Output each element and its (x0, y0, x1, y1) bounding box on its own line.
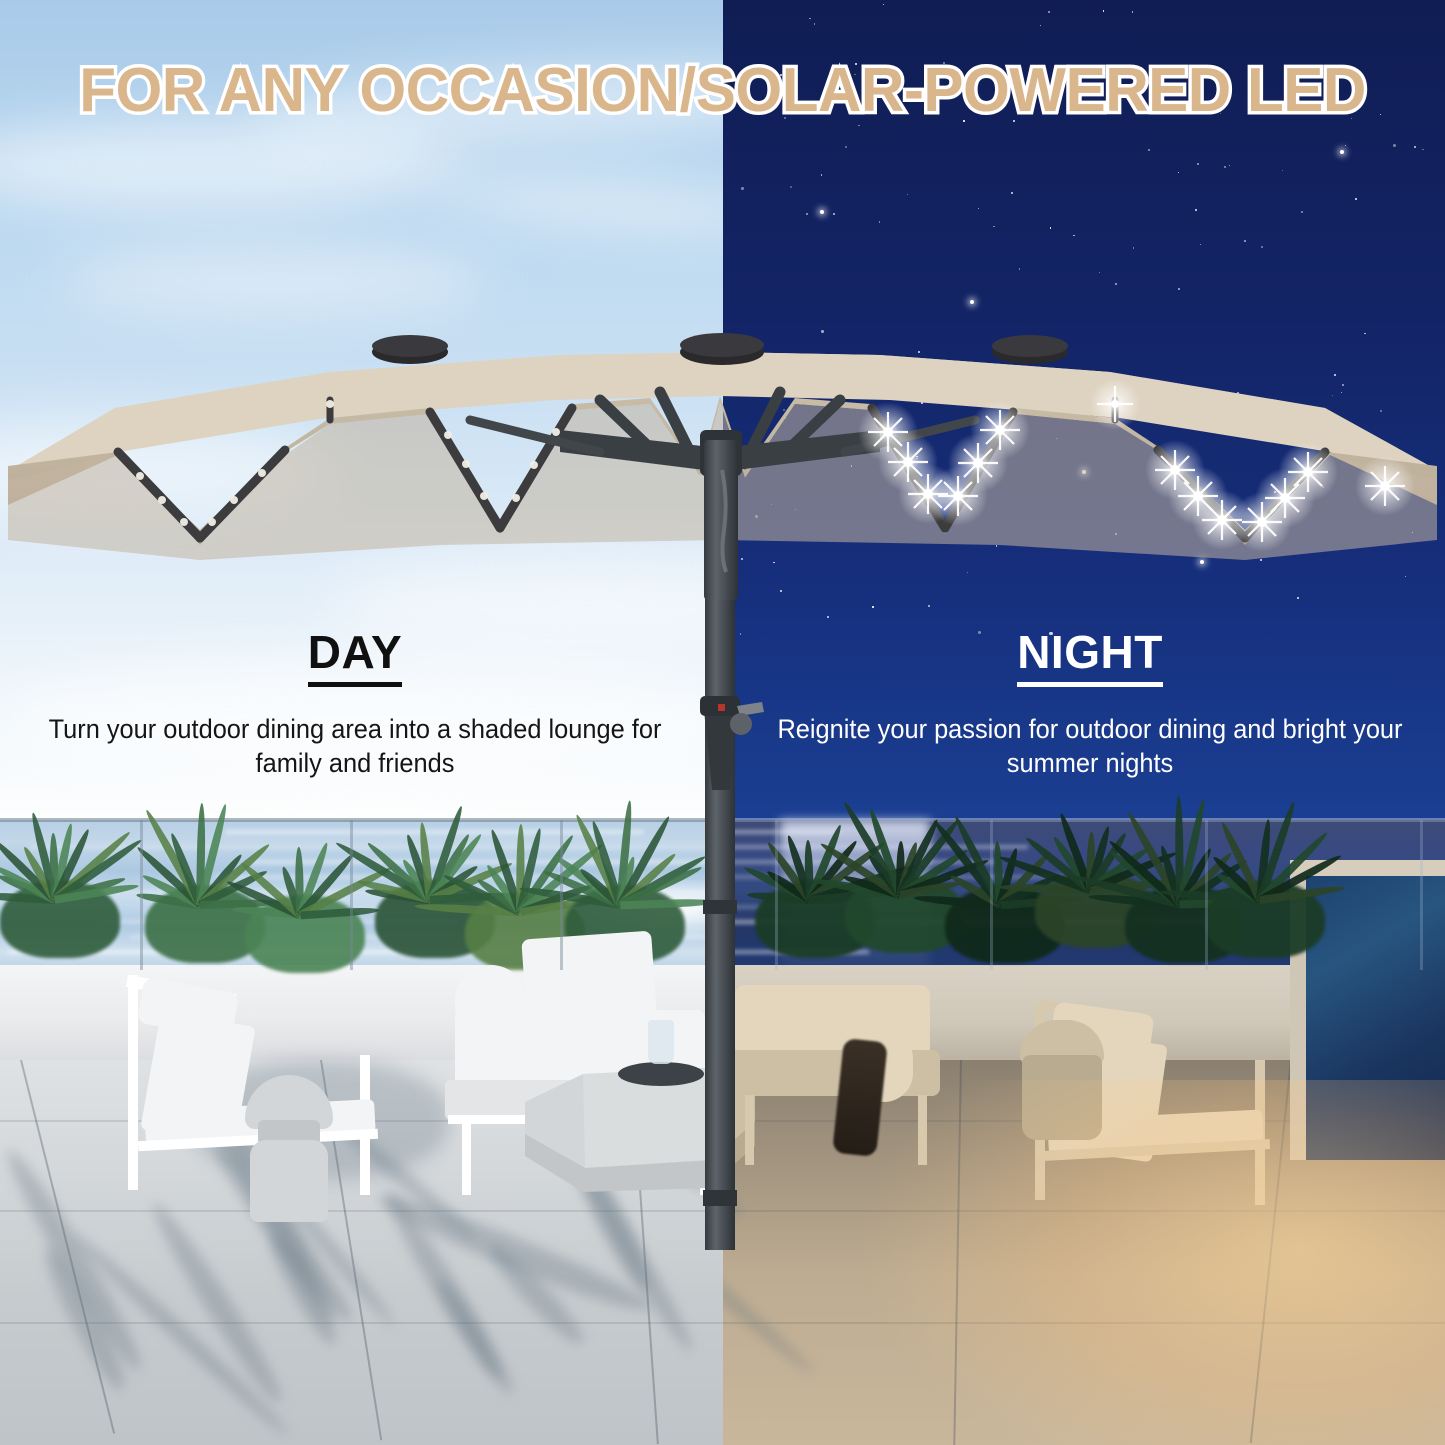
glass-carafe (648, 1020, 674, 1064)
bright-star (1340, 150, 1344, 154)
sofa-bolster (455, 965, 527, 1043)
star (928, 605, 930, 607)
star (1011, 192, 1013, 194)
star (741, 558, 743, 560)
star (755, 515, 758, 518)
bright-star (820, 210, 824, 214)
star (1133, 247, 1134, 248)
side-table-base (1022, 1055, 1102, 1140)
star (1197, 163, 1199, 165)
railing-post (990, 820, 993, 970)
side-table-base (250, 1140, 328, 1222)
railing-post (350, 820, 353, 970)
star (1322, 486, 1324, 488)
star (1282, 170, 1283, 171)
star (1297, 597, 1299, 599)
star (918, 351, 920, 353)
day-description: Turn your outdoor dining area into a sha… (26, 713, 684, 780)
night-label: NIGHT (1017, 628, 1163, 687)
star (827, 616, 829, 618)
bright-star (1200, 560, 1204, 564)
star (1342, 384, 1344, 386)
railing-post (140, 820, 143, 970)
serving-tray (618, 1062, 704, 1086)
star (1237, 392, 1238, 393)
cloud (60, 250, 490, 310)
star (814, 23, 815, 24)
palm-shadow (432, 1275, 519, 1399)
star (1131, 383, 1133, 385)
bright-star (970, 300, 974, 304)
star (1355, 198, 1357, 200)
star (1056, 438, 1057, 439)
tile-seam (723, 1322, 1445, 1324)
star (872, 606, 873, 607)
product-lifestyle-image: FOR ANY OCCASION/SOLAR-POWERED LED DAY T… (0, 0, 1445, 1445)
tile-seam (723, 1210, 1445, 1212)
star (1244, 240, 1246, 242)
railing-post (1420, 820, 1423, 970)
star (1103, 10, 1104, 11)
railing-post (775, 820, 778, 970)
star (1260, 559, 1262, 561)
railing-cap-night (723, 818, 1445, 822)
tile-seam (953, 1060, 962, 1445)
star (1334, 374, 1336, 376)
star (1224, 166, 1226, 168)
star (783, 416, 786, 419)
star (1414, 146, 1416, 148)
sofa-leg (462, 1120, 471, 1195)
star (821, 174, 822, 175)
railing-post (1205, 820, 1208, 970)
star (1115, 283, 1117, 285)
star (1274, 491, 1276, 493)
day-text-block: DAY Turn your outdoor dining area into a… (5, 628, 705, 780)
star (851, 465, 852, 466)
bright-star (1082, 470, 1086, 474)
railing-cap (0, 818, 723, 822)
star (1261, 246, 1262, 247)
railing-post (560, 820, 563, 970)
star (1301, 211, 1302, 212)
daybed-leg (918, 1095, 927, 1165)
star (978, 208, 979, 209)
star (773, 562, 774, 563)
star (794, 445, 795, 446)
star (833, 213, 835, 215)
night-description: Reignite your passion for outdoor dining… (761, 713, 1419, 780)
daybed-leg (745, 1095, 754, 1165)
star (967, 572, 968, 573)
night-text-block: NIGHT Reignite your passion for outdoor … (740, 628, 1440, 780)
sofa-cushion (521, 931, 658, 1052)
star (741, 187, 744, 190)
page-title: FOR ANY OCCASION/SOLAR-POWERED LED (22, 55, 1424, 126)
day-label: DAY (308, 628, 402, 687)
chair-leg (128, 975, 138, 1190)
